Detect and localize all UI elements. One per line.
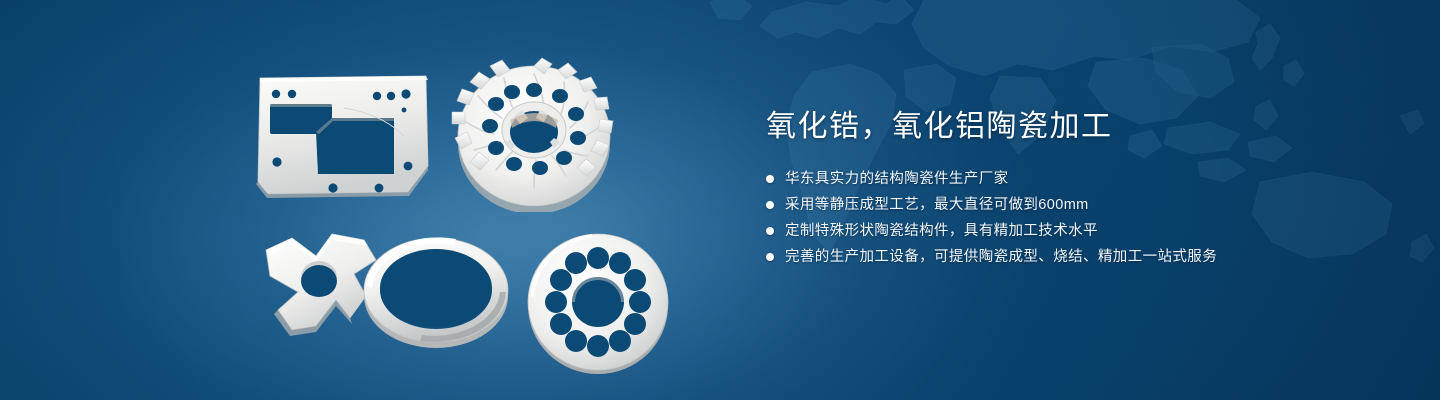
- list-item: 定制特殊形状陶瓷结构件，具有精加工技术水平: [766, 220, 1386, 242]
- feature-text: 采用等静压成型工艺，最大直径可做到600mm: [785, 195, 1089, 215]
- list-item: 完善的生产加工设备，可提供陶瓷成型、烧结、精加工一站式服务: [766, 246, 1386, 268]
- bullet-dot-icon: [766, 227, 774, 235]
- ceramic-ring: [360, 228, 512, 354]
- ceramic-impeller-disc: [448, 52, 620, 212]
- bullet-dot-icon: [766, 253, 774, 261]
- bullet-dot-icon: [766, 175, 774, 183]
- list-item: 采用等静压成型工艺，最大直径可做到600mm: [766, 194, 1386, 216]
- ceramic-perforated-disc: [518, 228, 678, 378]
- feature-text: 定制特殊形状陶瓷结构件，具有精加工技术水平: [785, 221, 1098, 241]
- feature-text: 完善的生产加工设备，可提供陶瓷成型、烧结、精加工一站式服务: [785, 247, 1217, 267]
- banner-copy: 氧化锆，氧化铝陶瓷加工 华东具实力的结构陶瓷件生产厂家 采用等静压成型工艺，最大…: [766, 108, 1386, 272]
- feature-list: 华东具实力的结构陶瓷件生产厂家 采用等静压成型工艺，最大直径可做到600mm 定…: [766, 168, 1386, 268]
- bullet-dot-icon: [766, 201, 774, 209]
- feature-text: 华东具实力的结构陶瓷件生产厂家: [785, 169, 1009, 189]
- hero-banner: 氧化锆，氧化铝陶瓷加工 华东具实力的结构陶瓷件生产厂家 采用等静压成型工艺，最大…: [0, 0, 1440, 400]
- list-item: 华东具实力的结构陶瓷件生产厂家: [766, 168, 1386, 190]
- ceramic-plate-with-cutouts: [248, 70, 438, 200]
- page-title: 氧化锆，氧化铝陶瓷加工: [766, 108, 1386, 146]
- product-photo-group: [0, 0, 760, 400]
